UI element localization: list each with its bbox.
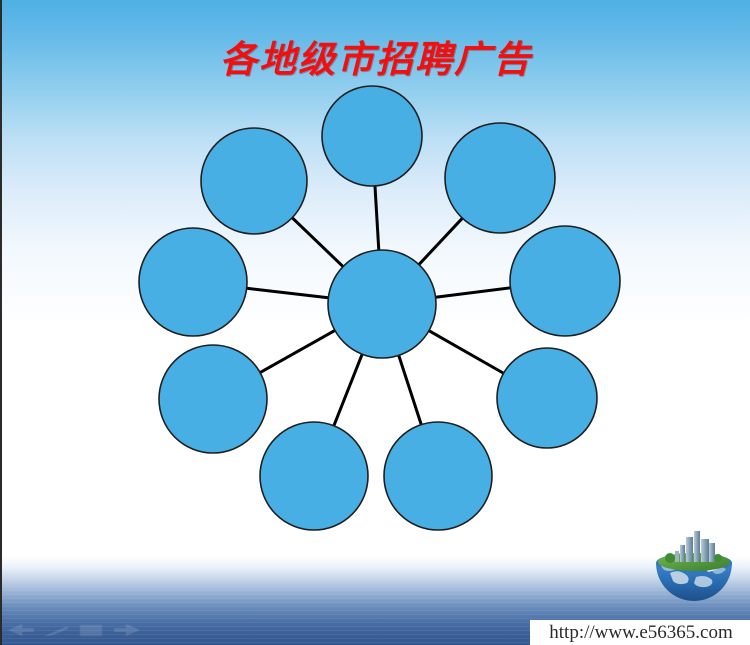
- globe-city-logo: [648, 527, 740, 605]
- spoke-line-6: [333, 353, 362, 426]
- spoke-line-2: [418, 217, 463, 265]
- spoke-line-4: [428, 330, 504, 374]
- spoke-line-3: [435, 288, 512, 298]
- diagram-node-6[interactable]: [260, 422, 368, 530]
- slide-canvas: 各地级市招聘广告: [0, 0, 750, 645]
- diagram-node-7[interactable]: [159, 345, 267, 453]
- diagram-node-3[interactable]: [510, 226, 620, 336]
- spoke-line-7: [259, 330, 336, 373]
- spoke-line-5: [398, 354, 421, 425]
- diagram-node-8[interactable]: [139, 228, 247, 336]
- spoke-line-8: [246, 288, 330, 298]
- hub-and-spoke-diagram: [2, 0, 750, 645]
- diagram-hub-circle[interactable]: [328, 250, 436, 358]
- diagram-node-2[interactable]: [445, 123, 555, 233]
- hub-node[interactable]: [328, 250, 436, 358]
- watermark-url: http://www.e56365.com: [530, 620, 750, 645]
- diagram-node-1[interactable]: [322, 86, 422, 186]
- spoke-line-1: [375, 185, 379, 251]
- spoke-line-9: [291, 217, 343, 267]
- diagram-node-9[interactable]: [201, 128, 307, 234]
- diagram-node-4[interactable]: [497, 348, 597, 448]
- diagram-node-5[interactable]: [384, 422, 492, 530]
